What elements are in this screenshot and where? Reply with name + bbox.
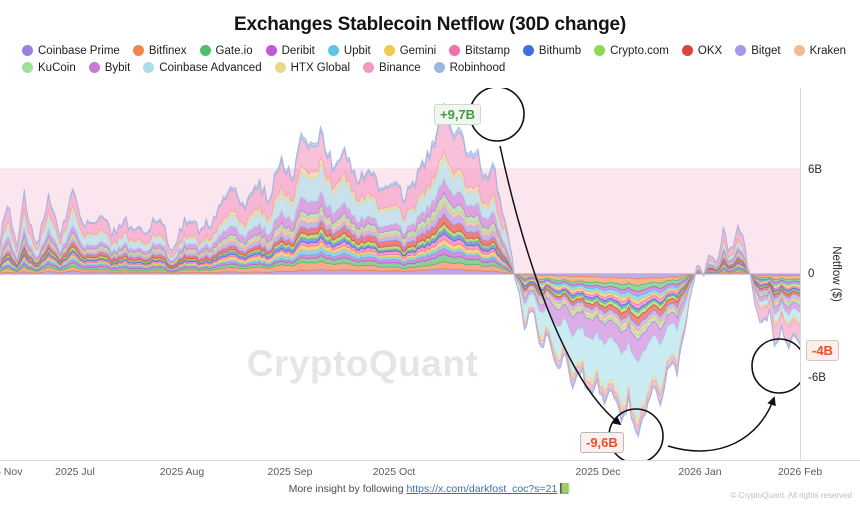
annotation-peak: +9,7B — [434, 104, 481, 125]
legend-swatch-icon — [434, 62, 445, 73]
legend-label: OKX — [698, 45, 722, 57]
x-tick-3: 2025 Oct — [373, 466, 416, 478]
latest-marker-circle — [752, 339, 801, 393]
x-tick-2: 2025 Sep — [268, 466, 313, 478]
legend-label: Robinhood — [450, 62, 506, 74]
x-tick-4: 2025 Nov — [0, 466, 22, 478]
footer-link[interactable]: https://x.com/darkfost_coc?s=21 — [406, 483, 557, 495]
legend-item-bithumb[interactable]: Bithumb — [523, 45, 581, 57]
copyright: © CryptoQuant. All rights reserved — [731, 491, 853, 500]
plot-area — [0, 88, 801, 460]
legend-item-crypto-com[interactable]: Crypto.com — [594, 45, 669, 57]
page-title: Exchanges Stablecoin Netflow (30D change… — [0, 14, 860, 36]
legend-item-bitget[interactable]: Bitget — [735, 45, 780, 57]
chart-card: Exchanges Stablecoin Netflow (30D change… — [0, 0, 860, 513]
legend-label: Bitfinex — [149, 45, 187, 57]
legend-swatch-icon — [22, 45, 33, 56]
legend-label: KuCoin — [38, 62, 76, 74]
legend-label: Bitget — [751, 45, 780, 57]
legend-swatch-icon — [266, 45, 277, 56]
stacked-area-chart — [0, 88, 801, 460]
footer-text: More insight by following — [289, 483, 407, 495]
legend-swatch-icon — [363, 62, 374, 73]
legend-swatch-icon — [275, 62, 286, 73]
legend-label: Bitstamp — [465, 45, 510, 57]
legend-item-okx[interactable]: OKX — [682, 45, 722, 57]
legend-swatch-icon — [328, 45, 339, 56]
legend-row-2: KuCoinBybitCoinbase AdvancedHTX GlobalBi… — [22, 59, 852, 76]
legend-swatch-icon — [735, 45, 746, 56]
legend-label: Binance — [379, 62, 421, 74]
legend-label: Deribit — [282, 45, 315, 57]
legend-item-gemini[interactable]: Gemini — [384, 45, 436, 57]
y-axis-line — [800, 88, 801, 460]
x-tick-1: 2025 Aug — [160, 466, 204, 478]
legend-item-robinhood[interactable]: Robinhood — [434, 62, 506, 74]
legend-swatch-icon — [449, 45, 460, 56]
legend-swatch-icon — [22, 62, 33, 73]
y-tick-0: 0 — [808, 268, 814, 280]
x-axis-line — [0, 460, 860, 461]
y-axis-label: Netflow ($) — [830, 246, 842, 302]
legend-swatch-icon — [133, 45, 144, 56]
legend-swatch-icon — [794, 45, 805, 56]
x-tick-7: 2026 Feb — [778, 466, 822, 478]
legend-swatch-icon — [594, 45, 605, 56]
legend-item-gate-io[interactable]: Gate.io — [200, 45, 253, 57]
legend-label: Upbit — [344, 45, 371, 57]
legend-item-coinbase-prime[interactable]: Coinbase Prime — [22, 45, 120, 57]
legend-label: Gemini — [400, 45, 436, 57]
x-tick-0: 2025 Jul — [55, 466, 95, 478]
legend-item-binance[interactable]: Binance — [363, 62, 421, 74]
books-icon: 📗 — [558, 483, 571, 495]
legend-label: Coinbase Prime — [38, 45, 120, 57]
legend-label: Gate.io — [216, 45, 253, 57]
legend-swatch-icon — [143, 62, 154, 73]
legend-item-bybit[interactable]: Bybit — [89, 62, 131, 74]
legend-item-deribit[interactable]: Deribit — [266, 45, 315, 57]
x-tick-6: 2026 Jan — [678, 466, 721, 478]
arrow-trough-to-latest — [668, 398, 774, 451]
legend-swatch-icon — [200, 45, 211, 56]
legend-item-kucoin[interactable]: KuCoin — [22, 62, 76, 74]
legend-item-bitstamp[interactable]: Bitstamp — [449, 45, 510, 57]
legend-swatch-icon — [523, 45, 534, 56]
legend-item-kraken[interactable]: Kraken — [794, 45, 846, 57]
chart-legend: Coinbase PrimeBitfinexGate.ioDeribitUpbi… — [22, 42, 852, 76]
y-tick-6b: 6B — [808, 164, 822, 176]
legend-item-coinbase-advanced[interactable]: Coinbase Advanced — [143, 62, 261, 74]
legend-item-htx-global[interactable]: HTX Global — [275, 62, 350, 74]
legend-label: Crypto.com — [610, 45, 669, 57]
legend-label: Bithumb — [539, 45, 581, 57]
legend-label: HTX Global — [291, 62, 350, 74]
legend-item-upbit[interactable]: Upbit — [328, 45, 371, 57]
legend-label: Coinbase Advanced — [159, 62, 261, 74]
legend-swatch-icon — [682, 45, 693, 56]
legend-swatch-icon — [384, 45, 395, 56]
legend-label: Bybit — [105, 62, 131, 74]
x-tick-5: 2025 Dec — [576, 466, 621, 478]
legend-row-1: Coinbase PrimeBitfinexGate.ioDeribitUpbi… — [22, 42, 852, 59]
annotation-latest: -4B — [806, 340, 839, 361]
annotation-trough: -9,6B — [580, 432, 624, 453]
legend-item-bitfinex[interactable]: Bitfinex — [133, 45, 187, 57]
y-tick-neg6b: -6B — [808, 372, 826, 384]
legend-label: Kraken — [810, 45, 846, 57]
legend-swatch-icon — [89, 62, 100, 73]
